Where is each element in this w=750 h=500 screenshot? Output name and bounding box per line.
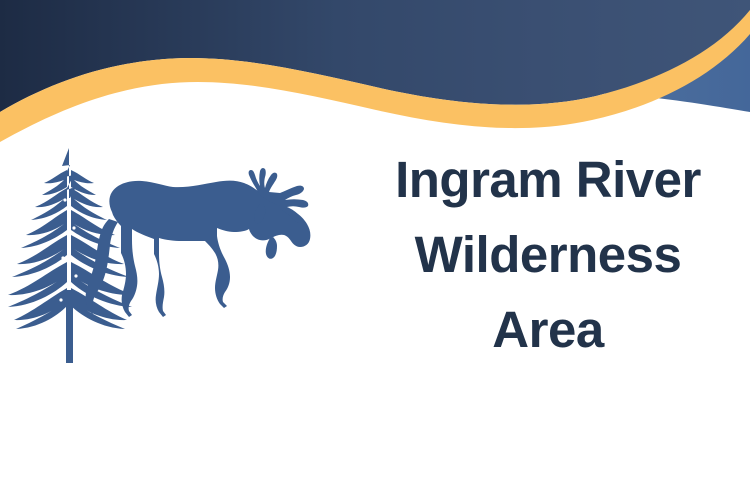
pine-tree-icon <box>8 148 133 363</box>
wilderness-illustration <box>8 140 338 370</box>
poster-canvas: Ingram River Wilderness Area <box>0 0 750 500</box>
title-line-2: Wilderness <box>352 217 744 292</box>
page-title: Ingram River Wilderness Area <box>352 142 744 367</box>
moose-icon <box>86 168 311 317</box>
title-line-1: Ingram River <box>352 142 744 217</box>
title-line-3: Area <box>352 292 744 367</box>
